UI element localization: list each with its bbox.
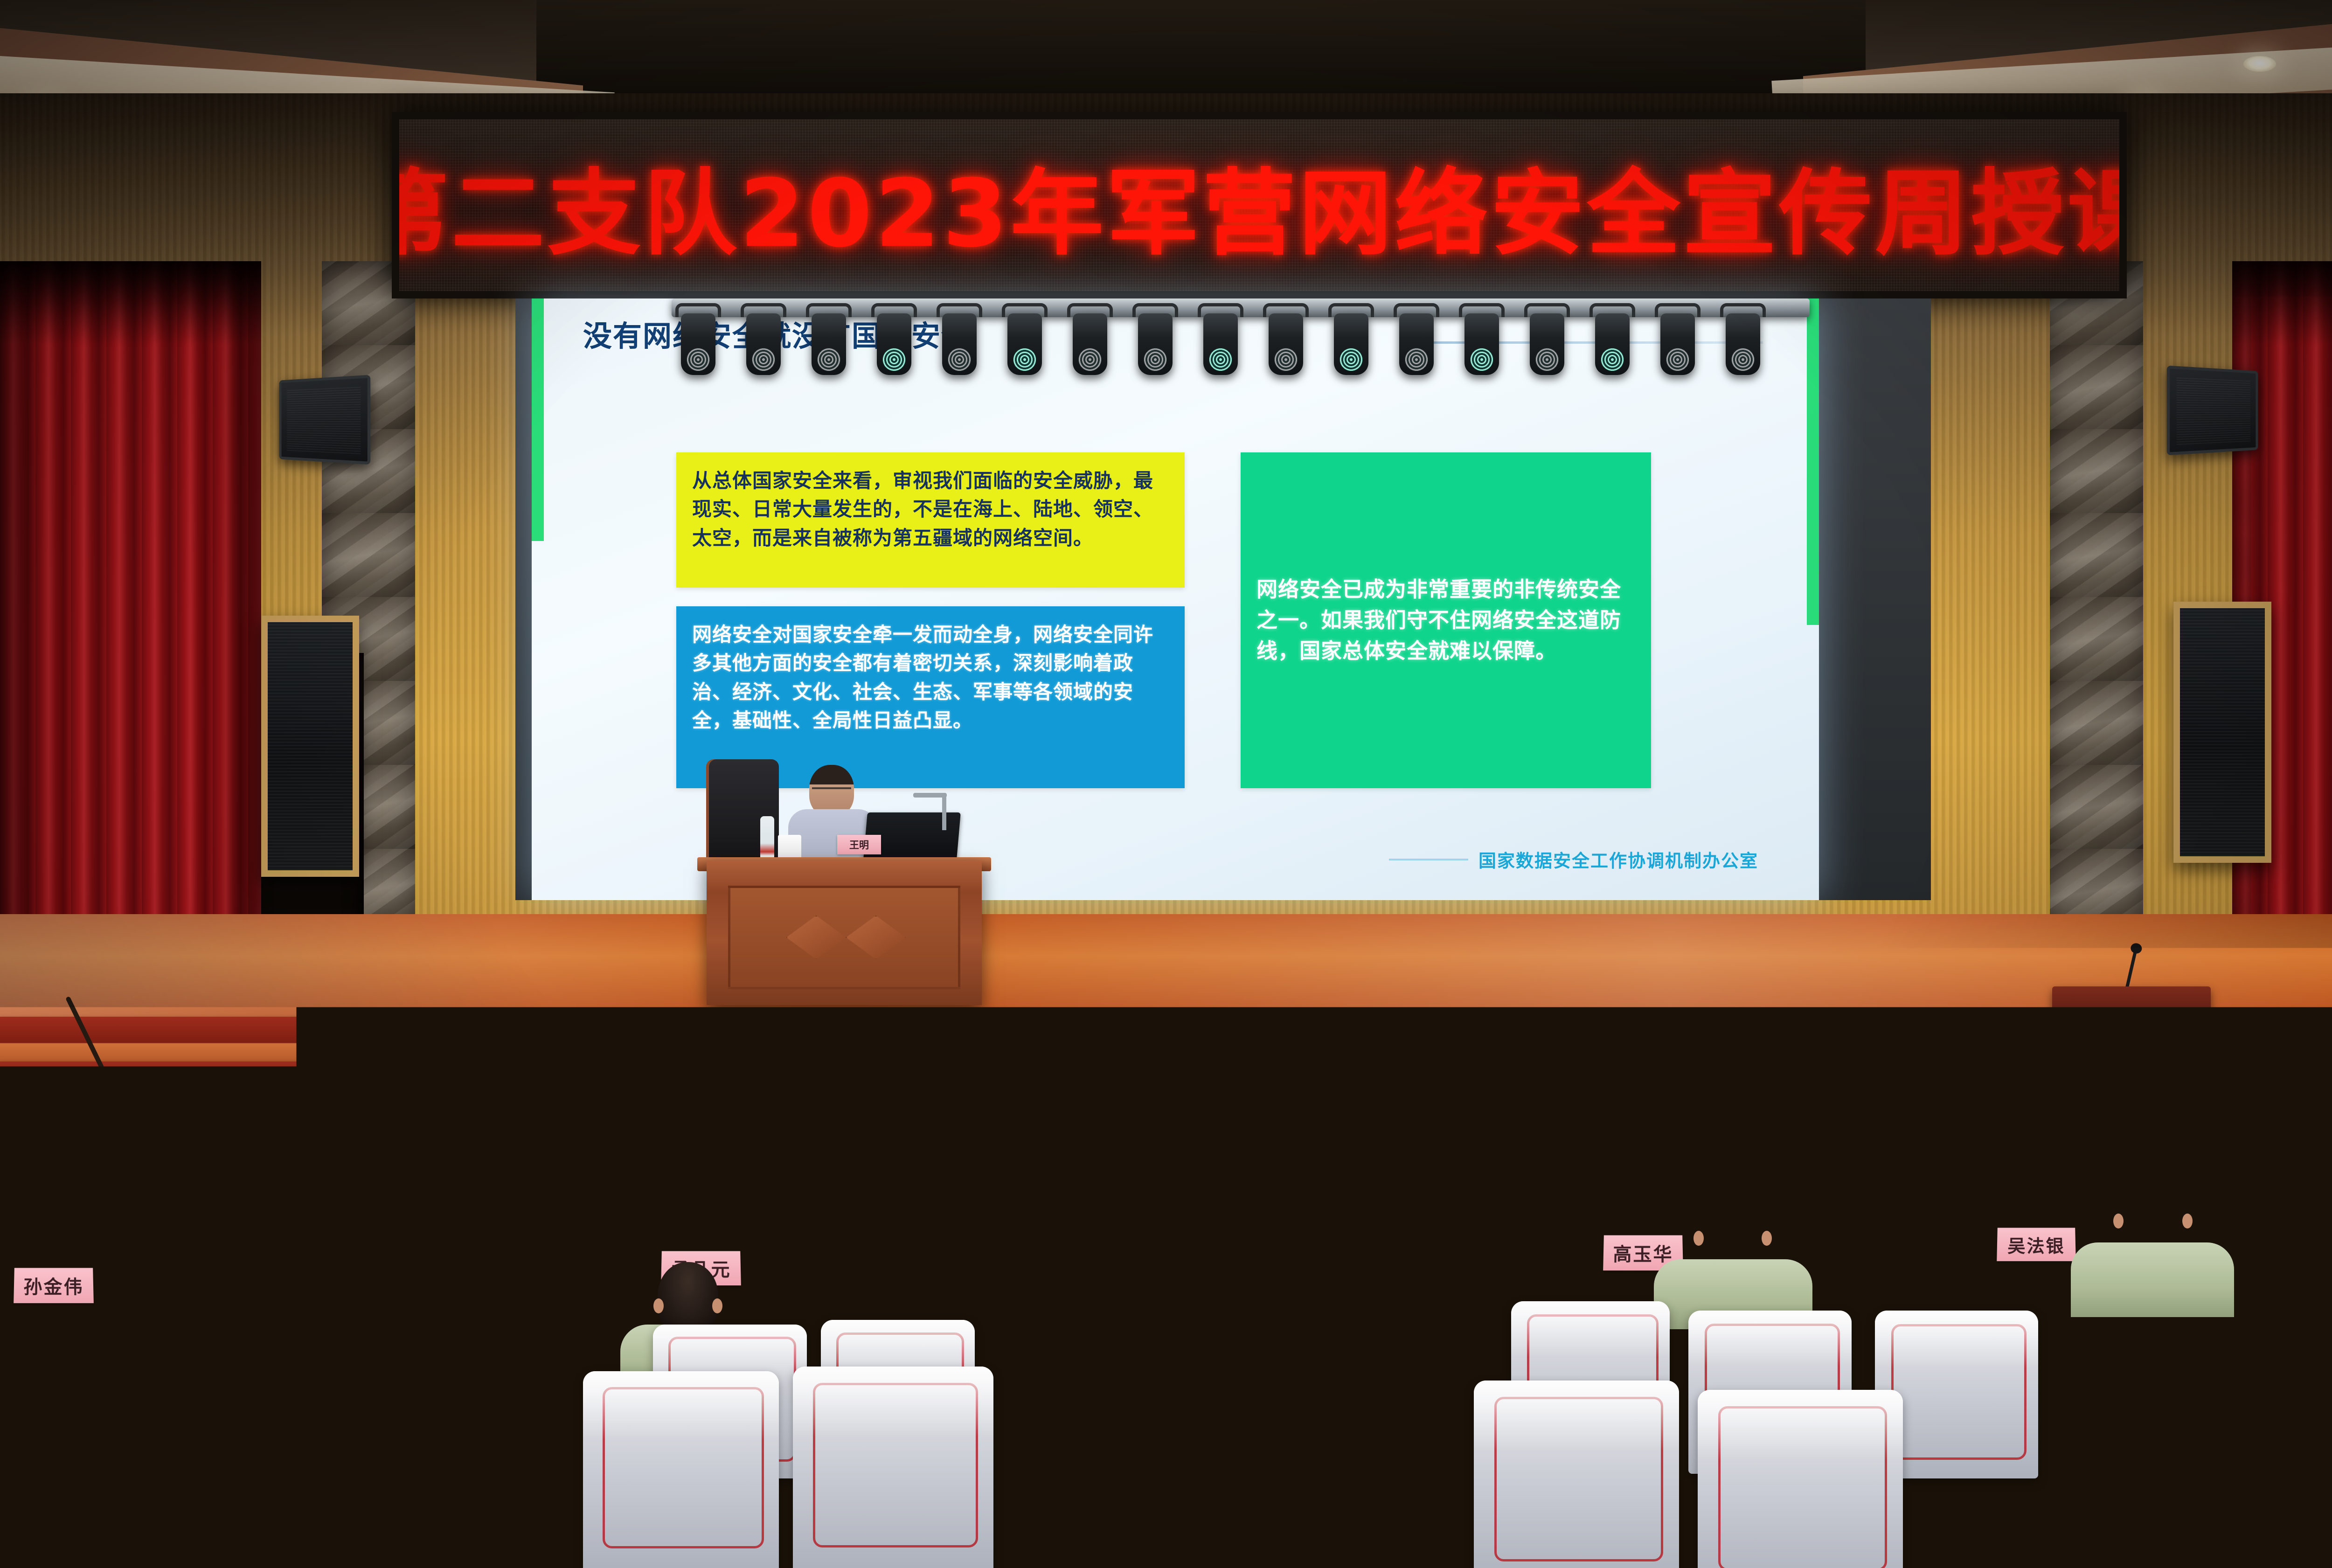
tower-speaker-left <box>261 616 359 877</box>
stage-light-icon <box>1464 313 1499 375</box>
wall-speaker-left <box>279 375 371 465</box>
audience-chair <box>793 1367 993 1568</box>
audience-head <box>1087 1292 1175 1395</box>
audience-chair <box>583 1371 779 1568</box>
audience-head <box>485 1292 578 1399</box>
presenter-name-card: 王明 <box>837 835 881 854</box>
podium-desk-panel <box>728 886 960 989</box>
audience-shoulders <box>2071 1242 2234 1317</box>
glasses-icon <box>812 787 851 795</box>
led-banner-screen: 执勤第二支队2023年军营网络安全宣传周授课辅导 <box>399 119 2119 291</box>
stage-light-icon <box>812 313 846 375</box>
audience-chair <box>1474 1381 1679 1568</box>
audience-name-card: 吴法银 <box>1997 1228 2076 1262</box>
wall-speaker-right <box>2167 366 2258 456</box>
stair-step <box>0 1017 317 1062</box>
audience-chair <box>373 1390 569 1568</box>
slide-box-yellow: 从总体国家安全来看，审视我们面临的安全威胁，最现实、日常大量发生的，不是在海上、… <box>676 452 1185 588</box>
audience-paper <box>0 1315 154 1367</box>
chroma-strip-left <box>532 298 544 541</box>
stage-light-icon <box>1530 313 1564 375</box>
stage-light-icon <box>1073 313 1107 375</box>
tower-speaker-right <box>2173 602 2271 863</box>
auditorium-scene: 执勤第二支队2023年军营网络安全宣传周授课辅导 没有网络安全就没有国家安全 从… <box>0 0 2332 1568</box>
stage-light-icon <box>1660 313 1695 375</box>
audience-name-card: 孙金伟 <box>14 1268 94 1304</box>
diamond-ornament-icon <box>846 916 906 959</box>
chroma-strip-right <box>1807 298 1819 625</box>
lectern-top <box>2052 986 2211 1019</box>
stage-light-icon <box>1595 313 1630 375</box>
stage-light-icon <box>1269 313 1303 375</box>
screen-wing-right <box>1810 298 1931 900</box>
stage-light-icon <box>1203 313 1238 375</box>
audience-shoulders <box>2043 1520 2285 1568</box>
stair-step <box>0 1196 243 1241</box>
slide-box-green: 网络安全已成为非常重要的非传统安全之一。如果我们守不住网络安全这道防线，国家总体… <box>1241 452 1651 788</box>
stair-step <box>0 1151 261 1196</box>
podium-desk <box>707 860 982 1005</box>
footer-dash-icon <box>1389 859 1468 860</box>
downlight-icon <box>2243 56 2276 72</box>
desk-lamp <box>913 793 947 798</box>
audience-head <box>1115 1175 1183 1254</box>
stage-light-icon <box>942 313 977 375</box>
stage-light-icon <box>1399 313 1434 375</box>
audience-chair <box>1698 1390 1903 1568</box>
led-banner-text: 执勤第二支队2023年军营网络安全宣传周授课辅导 <box>399 138 2119 273</box>
stage-light-icon <box>1007 313 1042 375</box>
curtain-top-shadow-left <box>0 261 261 345</box>
stage-light-icon <box>877 313 911 375</box>
audience-head <box>1698 1189 1768 1270</box>
audience-head <box>84 1436 205 1568</box>
diamond-ornament-icon <box>786 916 846 959</box>
slide-footer-text: 国家数据安全工作协调机制办公室 <box>1478 846 1758 872</box>
audience-head <box>658 1262 718 1332</box>
audience-head <box>1073 1427 1194 1567</box>
stage-light-icon <box>746 313 781 375</box>
stair-step <box>0 1062 298 1106</box>
curtain-top-shadow-right <box>2232 261 2332 345</box>
audience-head <box>2117 1171 2188 1253</box>
slide-footer: 国家数据安全工作协调机制办公室 <box>1389 846 1758 872</box>
stage-light-icon <box>1334 313 1368 375</box>
audience-chair <box>1259 1367 1460 1568</box>
stage-light-icon <box>1726 313 1760 375</box>
led-banner: 执勤第二支队2023年军营网络安全宣传周授课辅导 <box>392 112 2127 298</box>
stage-light-icon <box>681 313 715 375</box>
stage-light-icon <box>1138 313 1173 375</box>
audience-chair <box>2243 1339 2332 1516</box>
